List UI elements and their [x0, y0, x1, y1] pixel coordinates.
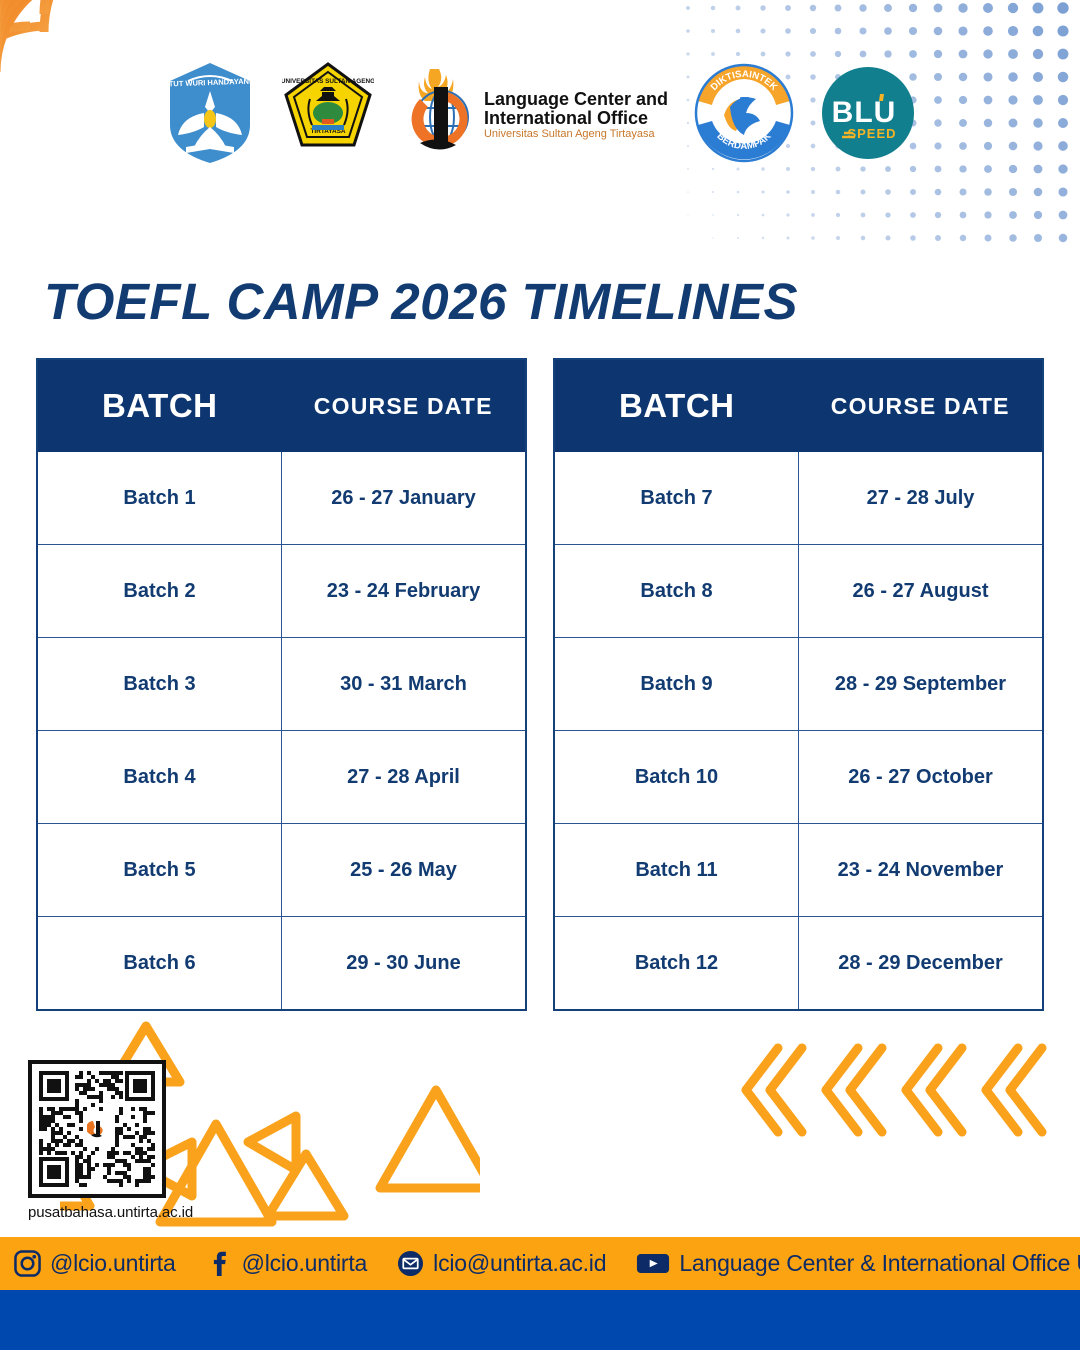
svg-text:UNIVERSITAS SULTAN AGENG: UNIVERSITAS SULTAN AGENG: [282, 78, 374, 85]
cell-batch: Batch 6: [38, 917, 282, 1010]
table-row: Batch 3 30 - 31 March: [38, 638, 525, 731]
cell-batch: Batch 5: [38, 824, 282, 917]
table-row: Batch 8 26 - 27 August: [555, 545, 1042, 638]
language-center-line1: Language Center and: [484, 90, 668, 109]
qr-code[interactable]: [28, 1060, 166, 1198]
language-center-line2: International Office: [484, 109, 668, 128]
table-row: Batch 1 26 - 27 January: [38, 452, 525, 545]
svg-text:BLU: BLU: [832, 96, 897, 129]
table-row: Batch 11 23 - 24 November: [555, 824, 1042, 917]
blu-speed-logo: BLU SPEED: [820, 65, 916, 166]
table-row: Batch 4 27 - 28 April: [38, 731, 525, 824]
column-header-course-date: COURSE DATE: [282, 360, 526, 452]
cell-batch: Batch 4: [38, 731, 282, 824]
footer-item-youtube[interactable]: Language Center & International Office U…: [636, 1250, 1080, 1277]
cell-date: 27 - 28 April: [282, 731, 526, 824]
poster-canvas: TUT WURI HANDAYANI UNIVERSITAS SULTAN AG…: [0, 0, 1080, 1350]
footer-instagram-handle: @lcio.untirta: [50, 1250, 176, 1277]
cell-date: 29 - 30 June: [282, 917, 526, 1010]
email-icon: [397, 1250, 424, 1277]
cell-batch: Batch 8: [555, 545, 799, 638]
table-row: Batch 5 25 - 26 May: [38, 824, 525, 917]
table-row: Batch 6 29 - 30 June: [38, 917, 525, 1010]
cell-date: 23 - 24 February: [282, 545, 526, 638]
timelines-tables: BATCH COURSE DATE Batch 1 26 - 27 Januar…: [36, 358, 1044, 1011]
cell-date: 26 - 27 January: [282, 452, 526, 545]
language-center-logo: Language Center and International Office…: [400, 63, 668, 167]
footer-social-bar: @lcio.untirta @lcio.untirta lcio@untirta…: [0, 1237, 1080, 1290]
cell-date: 23 - 24 November: [799, 824, 1043, 917]
svg-text:SPEED: SPEED: [847, 126, 896, 141]
cell-date: 27 - 28 July: [799, 452, 1043, 545]
qr-logo: [84, 1116, 110, 1142]
tut-wuri-handayani-logo: TUT WURI HANDAYANI: [164, 61, 256, 170]
facebook-icon: [206, 1250, 233, 1277]
cell-date: 28 - 29 September: [799, 638, 1043, 731]
cell-date: 30 - 31 March: [282, 638, 526, 731]
table-row: Batch 2 23 - 24 February: [38, 545, 525, 638]
table-header-row: BATCH COURSE DATE: [38, 360, 525, 452]
instagram-icon: [14, 1250, 41, 1277]
cell-date: 26 - 27 October: [799, 731, 1043, 824]
footer-email-address: lcio@untirta.ac.id: [433, 1250, 606, 1277]
diktisaintek-berdampak-logo: DIKTISAINTEK BERDAMPAK: [694, 63, 794, 168]
orange-chevrons-decoration: [726, 1038, 1066, 1148]
page-title: TOEFL CAMP 2026 TIMELINES: [44, 272, 798, 331]
column-header-course-date: COURSE DATE: [799, 360, 1043, 452]
footer-item-facebook[interactable]: @lcio.untirta: [206, 1250, 368, 1277]
cell-date: 25 - 26 May: [282, 824, 526, 917]
qr-block: pusatbahasa.untirta.ac.id: [28, 1060, 193, 1221]
footer-item-email[interactable]: lcio@untirta.ac.id: [397, 1250, 606, 1277]
qr-url-label: pusatbahasa.untirta.ac.id: [28, 1204, 193, 1221]
cell-date: 26 - 27 August: [799, 545, 1043, 638]
cell-batch: Batch 7: [555, 452, 799, 545]
footer-blue-bar: [0, 1290, 1080, 1350]
cell-batch: Batch 3: [38, 638, 282, 731]
column-header-batch: BATCH: [555, 360, 799, 452]
batch-table-left: BATCH COURSE DATE Batch 1 26 - 27 Januar…: [36, 358, 527, 1011]
table-header-row: BATCH COURSE DATE: [555, 360, 1042, 452]
cell-batch: Batch 2: [38, 545, 282, 638]
cell-batch: Batch 11: [555, 824, 799, 917]
logo-row: TUT WURI HANDAYANI UNIVERSITAS SULTAN AG…: [0, 60, 1080, 170]
table-row: Batch 10 26 - 27 October: [555, 731, 1042, 824]
language-center-line3: Universitas Sultan Ageng Tirtayasa: [484, 129, 668, 141]
table-row: Batch 12 28 - 29 December: [555, 917, 1042, 1010]
column-header-batch: BATCH: [38, 360, 282, 452]
table-row: Batch 9 28 - 29 September: [555, 638, 1042, 731]
cell-batch: Batch 9: [555, 638, 799, 731]
youtube-icon: [636, 1250, 670, 1277]
table-row: Batch 7 27 - 28 July: [555, 452, 1042, 545]
batch-table-right: BATCH COURSE DATE Batch 7 27 - 28 July B…: [553, 358, 1044, 1011]
footer-youtube-channel: Language Center & International Office U…: [679, 1250, 1080, 1277]
cell-date: 28 - 29 December: [799, 917, 1043, 1010]
footer-item-instagram[interactable]: @lcio.untirta: [14, 1250, 176, 1277]
cell-batch: Batch 1: [38, 452, 282, 545]
cell-batch: Batch 10: [555, 731, 799, 824]
untirta-logo: UNIVERSITAS SULTAN AGENG TIRTAYASA: [282, 61, 374, 170]
cell-batch: Batch 12: [555, 917, 799, 1010]
footer-facebook-handle: @lcio.untirta: [242, 1250, 368, 1277]
